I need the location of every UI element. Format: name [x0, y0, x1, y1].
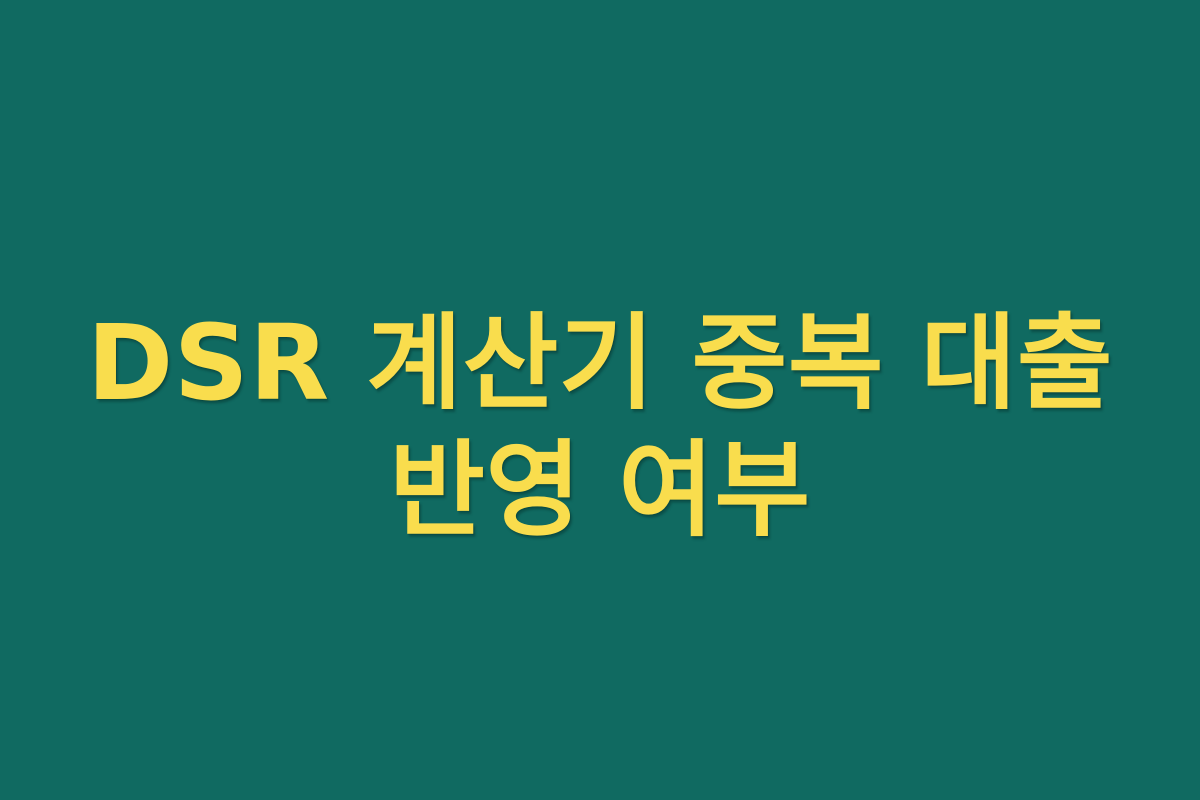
- title-card-canvas: DSR 계산기 중복 대출 반영 여부: [0, 0, 1200, 800]
- headline-block: DSR 계산기 중복 대출 반영 여부: [0, 300, 1200, 554]
- headline-line-2: 반영 여부: [60, 427, 1140, 554]
- headline-line-1: DSR 계산기 중복 대출: [60, 300, 1140, 427]
